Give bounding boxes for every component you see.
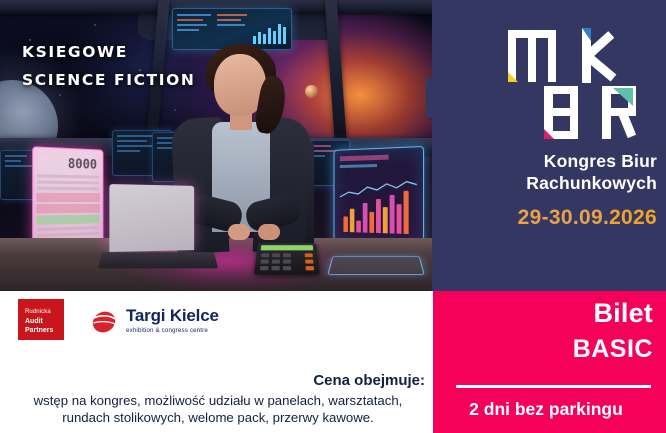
ticket-divider	[456, 385, 651, 388]
price-details-line2: rundach stolikowych, welome pack, przerw…	[12, 409, 424, 426]
price-heading: Cena obejmuje:	[0, 372, 425, 389]
ticket-banner: 8000	[0, 0, 666, 433]
rudnicka-audit: Audit	[25, 318, 53, 327]
partner-logo-targi-kielce[interactable]: Targi Kielce exhibition & congress centr…	[90, 303, 230, 339]
rudnicka-line1: Rudnicka	[25, 309, 51, 315]
calculator	[254, 243, 320, 275]
holo-value-label: 8000	[68, 157, 97, 173]
holo-analytics	[334, 146, 425, 248]
hero-headline: KSIEGOWE SCIENCE FICTION	[22, 38, 195, 94]
targi-kielce-mark-icon	[90, 309, 118, 335]
rudnicka-line2: Audit Partners	[25, 318, 53, 335]
holo-spreadsheet: 8000	[32, 146, 103, 252]
event-dates-prefix: 29-30.09.	[518, 206, 609, 229]
brand-subtitle-line1: Kongres Biur	[432, 150, 657, 172]
event-dates: 29-30.09.2026	[432, 206, 657, 230]
brand-subtitle: Kongres Biur Rachunkowych	[432, 150, 657, 194]
hero-image: 8000	[0, 0, 440, 291]
logo-accent-m	[508, 72, 518, 82]
partner-logo-rudnicka[interactable]: Rudnicka Audit Partners	[18, 299, 64, 340]
event-dates-year: 2026	[609, 206, 657, 229]
laptop-screen	[109, 184, 194, 252]
logo-accent-r	[613, 88, 633, 106]
price-details: wstęp na kongres, możliwość udziału w pa…	[12, 392, 424, 426]
logo-accent-k	[582, 28, 591, 41]
targi-kielce-tagline: exhibition & congress centre	[126, 327, 208, 334]
brand-subtitle-line2: Rachunkowych	[432, 172, 657, 194]
hero-headline-line1: KSIEGOWE	[22, 38, 195, 66]
logo-accent-b	[544, 129, 554, 139]
laptop-keyboard	[98, 252, 218, 268]
holographic-keyboard	[327, 256, 424, 275]
mkbr-logo	[506, 24, 654, 142]
ticket-note: 2 dni bez parkingu	[433, 399, 659, 420]
hero-headline-line2: SCIENCE FICTION	[22, 66, 195, 94]
targi-kielce-name: Targi Kielce	[126, 306, 219, 326]
price-details-line1: wstęp na kongres, możliwość udziału w pa…	[12, 392, 424, 409]
rudnicka-partners: Partners	[25, 327, 53, 336]
brand-panel-notch	[426, 78, 435, 118]
ticket-tier: BASIC	[433, 335, 653, 364]
person-figure	[176, 48, 308, 253]
ticket-label: Bilet	[433, 298, 653, 329]
